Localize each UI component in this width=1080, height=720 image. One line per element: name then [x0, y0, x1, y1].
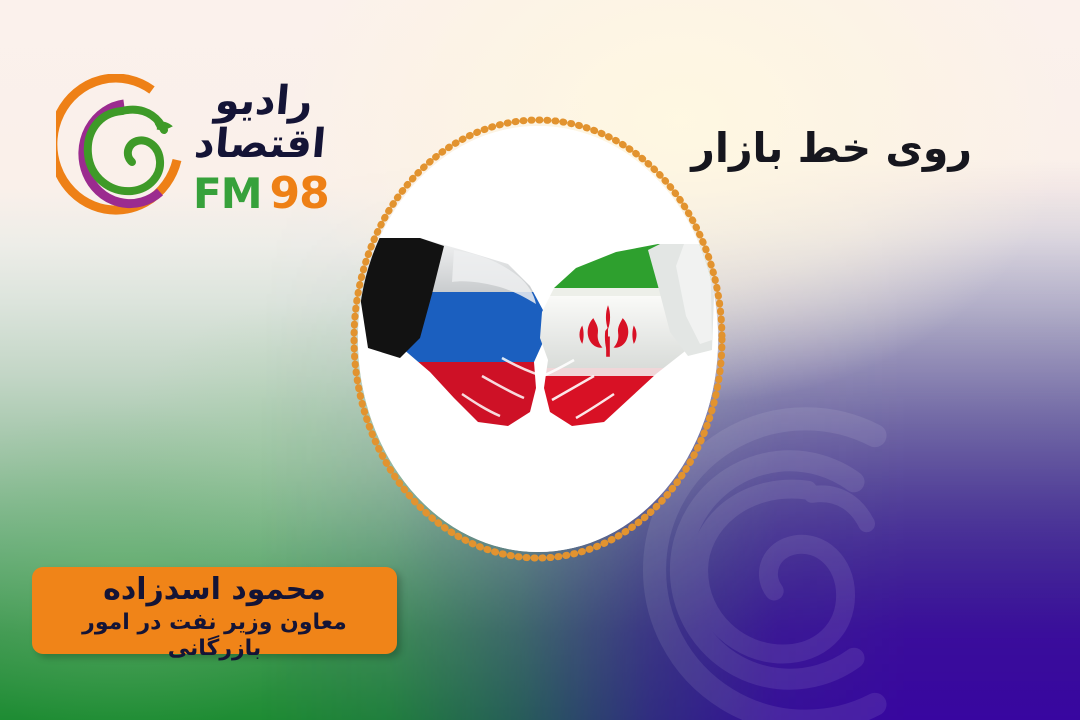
program-title: روی خط بازار	[691, 124, 972, 172]
frequency-number: ّ98	[270, 168, 329, 219]
frequency-number-label: 98	[270, 168, 329, 219]
station-wordmark: رادیو اقتصاد	[182, 80, 342, 166]
broadcast-graphic-canvas: رادیو اقتصاد FMّ98 روی خط بازار	[0, 0, 1080, 720]
guest-name: محمود اسدزاده	[32, 570, 397, 610]
station-frequency: FMّ98	[193, 168, 318, 219]
photo-oval-mask	[358, 126, 718, 552]
guest-role: معاون وزیر نفت در امور بازرگانی	[32, 610, 397, 664]
frequency-band-label: FM	[193, 169, 262, 218]
handshake-illustration	[358, 126, 718, 552]
station-name-fa: رادیو اقتصاد	[178, 80, 346, 166]
guest-photo-frame	[358, 126, 718, 552]
station-logo-mark	[56, 74, 188, 232]
guest-name-banner: محمود اسدزاده معاون وزیر نفت در امور باز…	[32, 567, 397, 654]
